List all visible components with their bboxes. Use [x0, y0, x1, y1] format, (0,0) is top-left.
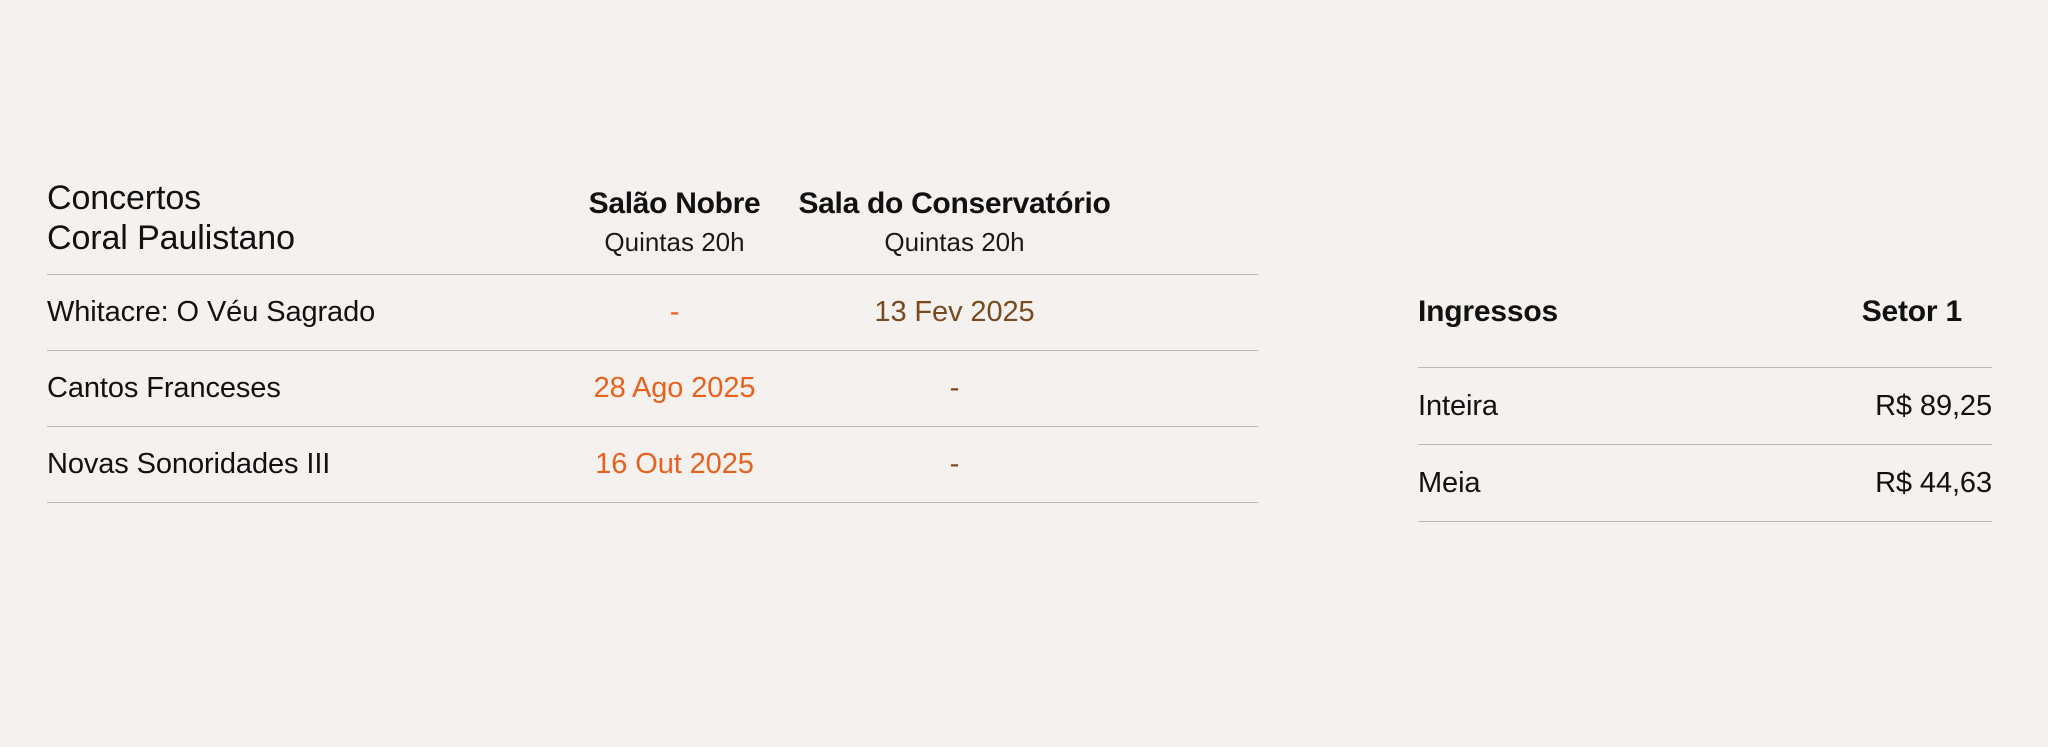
- venue-name-salao-nobre: Salão Nobre: [567, 186, 782, 222]
- table-row: Whitacre: O Véu Sagrado - 13 Fev 2025: [47, 275, 1258, 350]
- venue-name-sala-conservatorio: Sala do Conservatório: [782, 186, 1127, 222]
- price-header-row: Ingressos Setor 1: [1418, 295, 1992, 367]
- price-amount: R$ 44,63: [1875, 467, 1992, 500]
- concert-date-sala-conservatorio: -: [782, 372, 1127, 405]
- schedule-table-bottom-divider: [47, 502, 1258, 503]
- price-type-label: Meia: [1418, 467, 1480, 500]
- page-root: Concertos Coral Paulistano Salão Nobre Q…: [0, 0, 2048, 747]
- concert-schedule-table: Concertos Coral Paulistano Salão Nobre Q…: [47, 178, 1258, 503]
- price-header-sector: Setor 1: [1862, 295, 1992, 329]
- venue-schedule-salao-nobre: Quintas 20h: [567, 226, 782, 260]
- concert-date-salao-nobre: -: [567, 296, 782, 329]
- concert-date-sala-conservatorio: 13 Fev 2025: [782, 296, 1127, 329]
- ticket-price-table: Ingressos Setor 1 Inteira R$ 89,25 Meia …: [1418, 295, 1992, 522]
- concert-date-sala-conservatorio: -: [782, 448, 1127, 481]
- schedule-title-line-1: Concertos: [47, 178, 567, 218]
- table-row: Cantos Franceses 28 Ago 2025 -: [47, 351, 1258, 426]
- table-row: Novas Sonoridades III 16 Out 2025 -: [47, 427, 1258, 502]
- schedule-title: Concertos Coral Paulistano: [47, 178, 567, 260]
- table-row: Inteira R$ 89,25: [1418, 368, 1992, 444]
- venue-schedule-sala-conservatorio: Quintas 20h: [782, 226, 1127, 260]
- table-row: Meia R$ 44,63: [1418, 445, 1992, 521]
- venue-column-sala-conservatorio: Sala do Conservatório Quintas 20h: [782, 186, 1127, 260]
- concert-name: Novas Sonoridades III: [47, 448, 567, 481]
- schedule-title-line-2: Coral Paulistano: [47, 218, 567, 258]
- concert-name: Whitacre: O Véu Sagrado: [47, 296, 567, 329]
- price-header-label: Ingressos: [1418, 295, 1558, 329]
- concert-date-salao-nobre: 16 Out 2025: [567, 448, 782, 481]
- concert-date-salao-nobre: 28 Ago 2025: [567, 372, 782, 405]
- venue-column-salao-nobre: Salão Nobre Quintas 20h: [567, 186, 782, 260]
- price-table-bottom-divider: [1418, 521, 1992, 522]
- price-amount: R$ 89,25: [1875, 390, 1992, 423]
- price-type-label: Inteira: [1418, 390, 1498, 423]
- concert-name: Cantos Franceses: [47, 372, 567, 405]
- schedule-header-row: Concertos Coral Paulistano Salão Nobre Q…: [47, 178, 1258, 274]
